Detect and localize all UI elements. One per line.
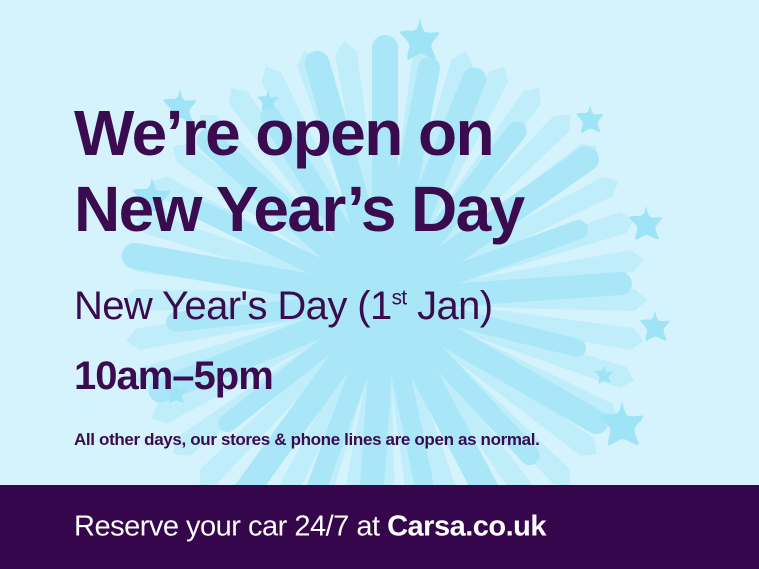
fineprint-note: All other days, our stores & phone lines… — [74, 430, 540, 450]
footer-cta: Reserve your car 24/7 at Carsa.co.uk — [74, 511, 546, 544]
footer-bar: Reserve your car 24/7 at Carsa.co.uk — [0, 485, 759, 569]
page-title: We’re open on New Year’s Day — [74, 95, 714, 247]
opening-date-suffix: Jan) — [407, 284, 493, 328]
opening-date-prefix: New Year's Day (1 — [74, 284, 392, 328]
footer-cta-prefix: Reserve your car 24/7 at — [74, 511, 387, 543]
opening-date: New Year's Day (1st Jan) — [74, 282, 493, 330]
opening-date-ordinal: st — [392, 287, 407, 310]
headline-line-2: New Year’s Day — [74, 171, 714, 247]
brand-url[interactable]: Carsa.co.uk — [387, 511, 546, 543]
promo-banner: We’re open on New Year’s Day New Year's … — [0, 0, 759, 569]
headline-line-1: We’re open on — [74, 95, 714, 171]
banner-content: We’re open on New Year’s Day New Year's … — [0, 0, 759, 485]
opening-hours: 10am–5pm — [74, 352, 273, 400]
